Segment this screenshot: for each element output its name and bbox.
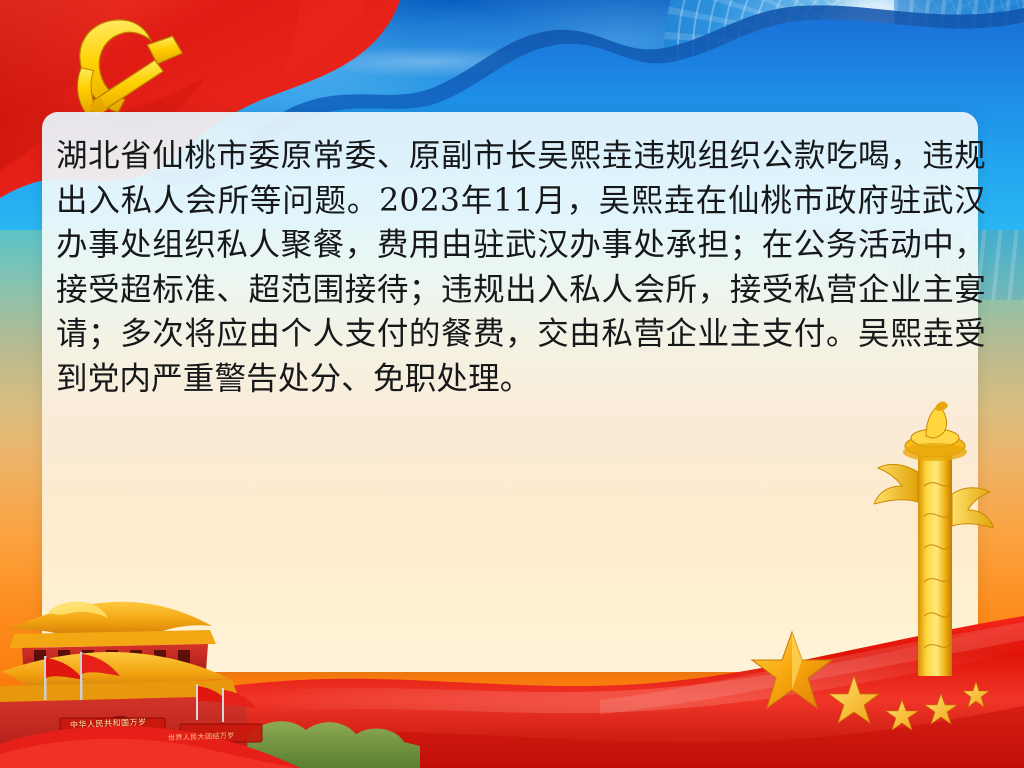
star-small-2 <box>925 694 957 724</box>
star-medium <box>829 676 879 723</box>
star-large <box>752 632 832 708</box>
report-body-text: 湖北省仙桃市委原常委、原副市长吴熙垚违规组织公款吃喝，违规出入私人会所等问题。2… <box>56 134 986 401</box>
star-small-1 <box>886 700 918 730</box>
slide-canvas: 湖北省仙桃市委原常委、原副市长吴熙垚违规组织公款吃喝，违规出入私人会所等问题。2… <box>0 0 1024 768</box>
star-small-3 <box>963 682 989 707</box>
five-golden-stars <box>744 620 1004 740</box>
